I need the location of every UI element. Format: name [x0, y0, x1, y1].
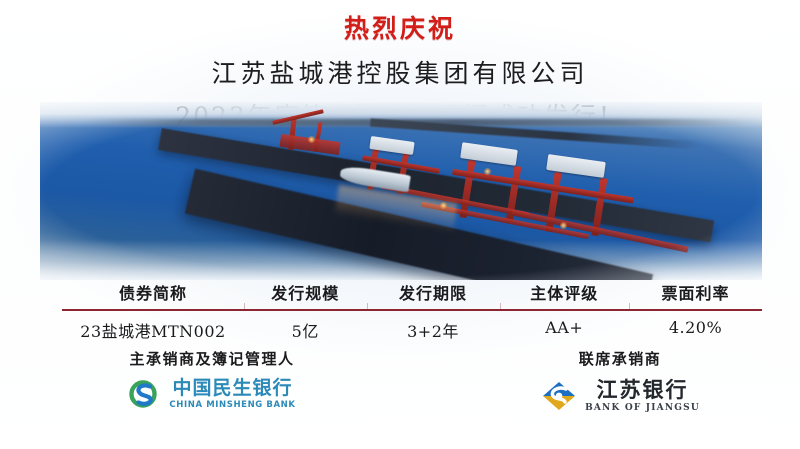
column-tick [629, 303, 630, 309]
cell-bond-name: 23盐城港MTN002 [62, 311, 244, 342]
column-header-term: 发行期限 [367, 280, 500, 309]
minsheng-logo: 中国民生银行 CHINA MINSHENG BANK [62, 379, 362, 410]
column-header-rating: 主体评级 [500, 280, 630, 309]
jiangsu-logo: 江苏银行 BANK OF JIANGSU [470, 379, 770, 413]
cell-rating: AA+ [500, 311, 630, 342]
cell-term: 3+2年 [367, 311, 500, 342]
column-tick [367, 303, 368, 309]
lead-underwriter-label: 主承销商及簿记管理人 [62, 348, 362, 369]
minsheng-wordmark: 中国民生银行 CHINA MINSHENG BANK [169, 379, 295, 410]
bond-info-table: 债券简称 发行规模 发行期限 主体评级 票面利率 23盐城港MTN002 5亿 … [62, 280, 762, 342]
column-header-coupon: 票面利率 [629, 280, 762, 309]
jiangsu-name-cn: 江苏银行 [585, 379, 700, 400]
port-photo-image [40, 102, 762, 280]
column-header-issue-size: 发行规模 [244, 280, 367, 309]
company-name: 江苏盐城港控股集团有限公司 [0, 54, 800, 90]
cell-issue-size: 5亿 [244, 311, 367, 342]
table-header-row: 债券简称 发行规模 发行期限 主体评级 票面利率 [62, 280, 762, 309]
dock-light [440, 202, 447, 209]
column-header-bond-name: 债券简称 [62, 280, 244, 309]
minsheng-name-en: CHINA MINSHENG BANK [169, 401, 295, 410]
minsheng-name-cn: 中国民生银行 [169, 379, 295, 398]
port-photo [40, 102, 762, 280]
table-divider-rule [62, 309, 762, 311]
dock-light-2 [560, 222, 567, 229]
column-tick [244, 303, 245, 309]
jiangsu-wordmark: 江苏银行 BANK OF JIANGSU [585, 379, 700, 413]
crane-light-a [484, 168, 491, 175]
table-row: 23盐城港MTN002 5亿 3+2年 AA+ 4.20% [62, 311, 762, 342]
minsheng-mark-icon [128, 379, 162, 409]
jiangsu-name-en: BANK OF JIANGSU [585, 404, 700, 413]
lead-underwriter-block: 主承销商及簿记管理人 中国民生银行 CHINA MINSHENG BANK [62, 348, 362, 410]
jiangsu-mark-icon [540, 380, 578, 412]
crane-light-far [308, 136, 315, 143]
cell-coupon: 4.20% [629, 311, 762, 342]
joint-underwriter-block: 联席承销商 江苏银行 BANK OF JIANGSU [470, 348, 770, 413]
page-title-cheer: 热烈庆祝 [0, 9, 800, 45]
celebration-poster: 热烈庆祝 江苏盐城港控股集团有限公司 2023年度第二期中期票据成功发行！ [0, 0, 800, 449]
column-tick [500, 303, 501, 309]
joint-underwriter-label: 联席承销商 [470, 348, 770, 369]
